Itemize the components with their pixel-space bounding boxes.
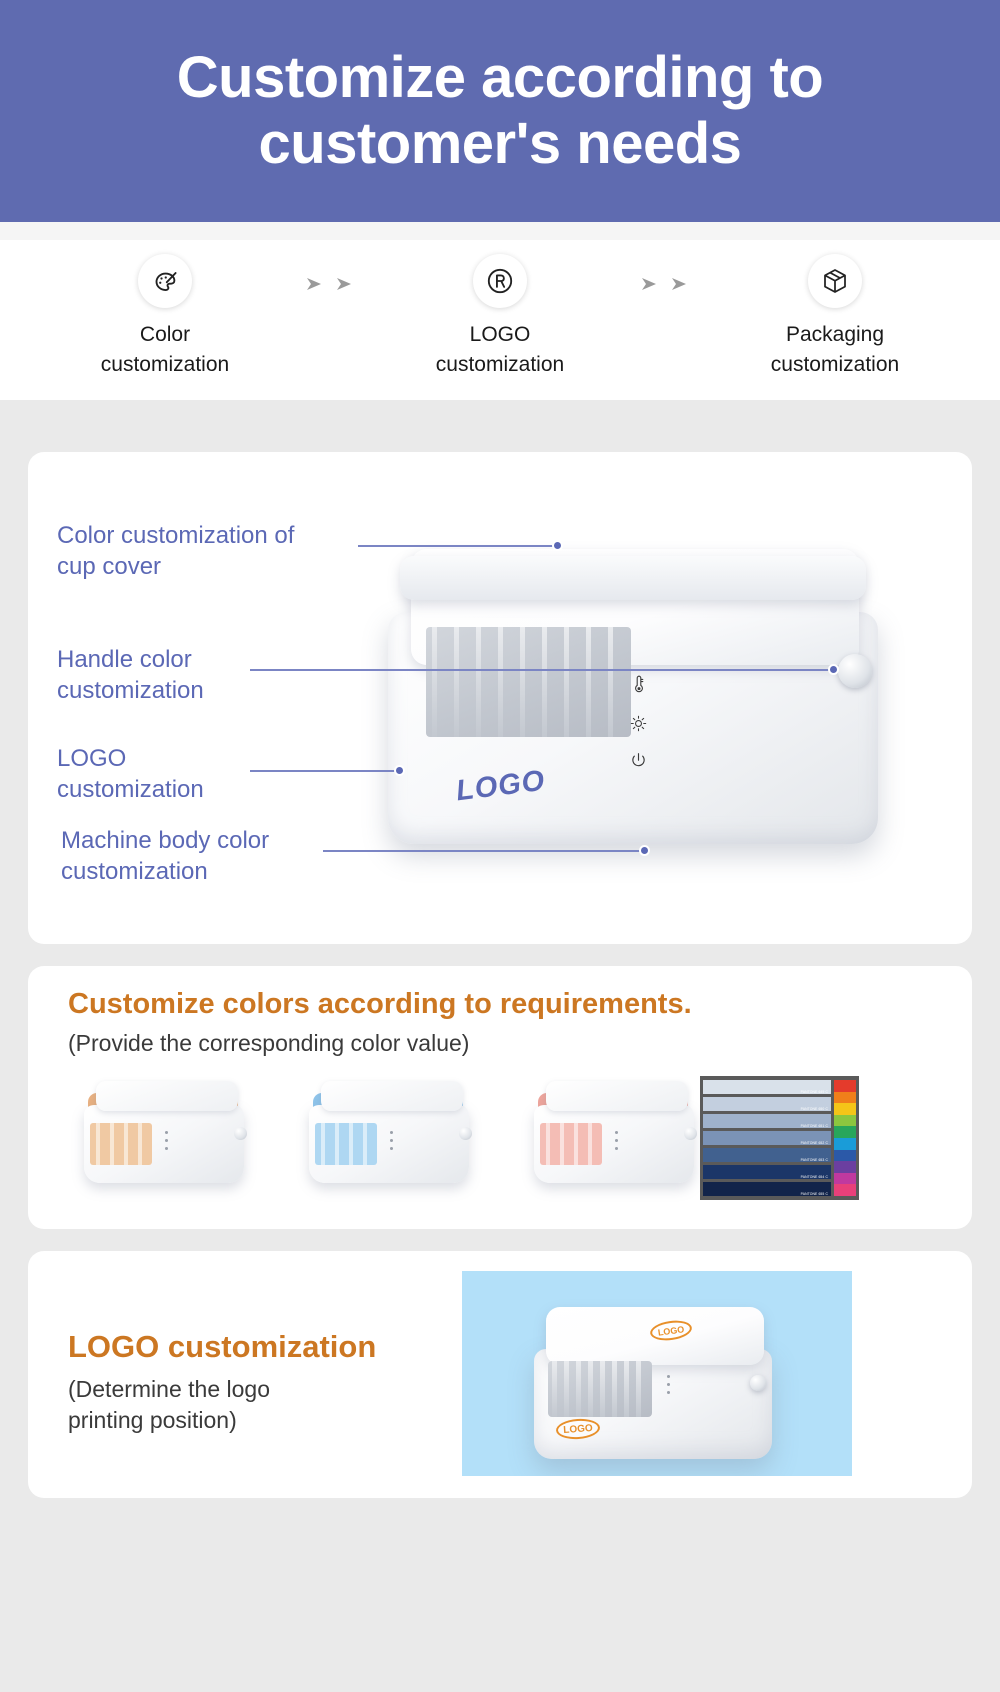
callout-dot [552,540,563,551]
leader-line [250,770,400,772]
process-step-label: Color customization [58,320,273,380]
process-step-logo[interactable]: LOGO customization [393,254,608,380]
logo-section-title: LOGO customization [68,1329,376,1365]
callout-cup-cover: Color customization of cup cover [57,520,294,582]
step-label-line2: customization [101,353,229,376]
process-step-label: LOGO customization [393,320,608,380]
thermometer-icon [631,674,647,699]
callout-line1: LOGO [57,745,126,772]
power-icon [630,752,647,774]
pantone-swatch: PANTONE 652 C [703,1131,831,1145]
pantone-code: PANTONE 653 C [801,1159,828,1162]
pantone-code: PANTONE 652 C [801,1142,828,1145]
pantone-swatch-column: PANTONE 649 C PANTONE 650 C PANTONE 651 … [703,1080,831,1196]
callout-machine-body: Machine body color customization [61,825,269,887]
leader-line [250,669,834,671]
pantone-code: PANTONE 649 C [801,1091,828,1094]
color-variant-blue[interactable] [295,1079,480,1189]
callout-logo: LOGO customization [57,743,204,805]
process-step-color[interactable]: Color customization [58,254,273,380]
pantone-color-chart[interactable]: PANTONE 649 C PANTONE 650 C PANTONE 651 … [700,1076,859,1200]
registered-trademark-icon [473,254,527,308]
callout-line2: cup cover [57,553,161,580]
callout-handle-color: Handle color customization [57,644,204,706]
logo-section-subtitle: (Determine the logo printing position) [68,1374,270,1436]
leader-line [358,545,558,547]
double-chevron-right-icon [608,276,728,292]
pantone-rainbow-strip [834,1080,856,1196]
step-label-line2: customization [771,353,899,376]
handle-knob [838,654,872,688]
process-steps: Color customization LOGO customization [0,240,1000,400]
step-label-line1: Packaging [786,323,884,346]
pantone-swatch: PANTONE 650 C [703,1097,831,1111]
step-label-line1: Color [140,323,190,346]
callout-line1: Machine body color [61,827,269,854]
pantone-swatch: PANTONE 649 C [703,1080,831,1094]
pantone-code: PANTONE 655 C [801,1193,828,1196]
color-variant-pink[interactable] [520,1079,705,1189]
step-label-line1: LOGO [470,323,531,346]
product-callout-card: LOGO Color customization of cup cover Ha… [28,452,972,944]
logo-placement-photo: LOGO LOGO [462,1271,852,1476]
color-customization-card: Customize colors according to requiremen… [28,966,972,1229]
double-chevron-right-icon [273,276,393,292]
pantone-swatch: PANTONE 655 C [703,1182,831,1196]
page-title-line2: customer's needs [259,111,742,176]
callout-dot [639,845,650,856]
color-variant-orange[interactable] [70,1079,255,1189]
callout-dot [394,765,405,776]
colors-section-title: Customize colors according to requiremen… [68,988,692,1021]
process-step-packaging[interactable]: Packaging customization [728,254,943,380]
step-label-line2: customization [436,353,564,376]
callout-line1: Handle color [57,646,192,673]
brightness-icon [629,714,648,738]
palette-icon [138,254,192,308]
process-step-label: Packaging customization [728,320,943,380]
pantone-swatch: PANTONE 653 C [703,1148,831,1162]
logo-customization-card: LOGO customization (Determine the logo p… [28,1251,972,1498]
page-title-line1: Customize according to [177,45,823,110]
pantone-swatch: PANTONE 654 C [703,1165,831,1179]
callout-line2: customization [57,677,204,704]
pantone-code: PANTONE 650 C [801,1108,828,1111]
package-box-icon [808,254,862,308]
page-title: Customize according to customer's needs [177,45,823,176]
colors-section-subtitle: (Provide the corresponding color value) [68,1030,469,1057]
page-header: Customize according to customer's needs [0,0,1000,222]
leader-line [323,850,645,852]
callout-dot [828,664,839,675]
logo-subtitle-line1: (Determine the logo [68,1376,270,1402]
process-section: Color customization LOGO customization [0,222,1000,400]
pantone-code: PANTONE 651 C [801,1125,828,1128]
pantone-swatch: PANTONE 651 C [703,1114,831,1128]
callout-line2: customization [57,776,204,803]
pantone-code: PANTONE 654 C [801,1176,828,1179]
callout-line2: customization [61,858,208,885]
logo-subtitle-line2: printing position) [68,1407,237,1433]
callout-line1: Color customization of [57,522,294,549]
